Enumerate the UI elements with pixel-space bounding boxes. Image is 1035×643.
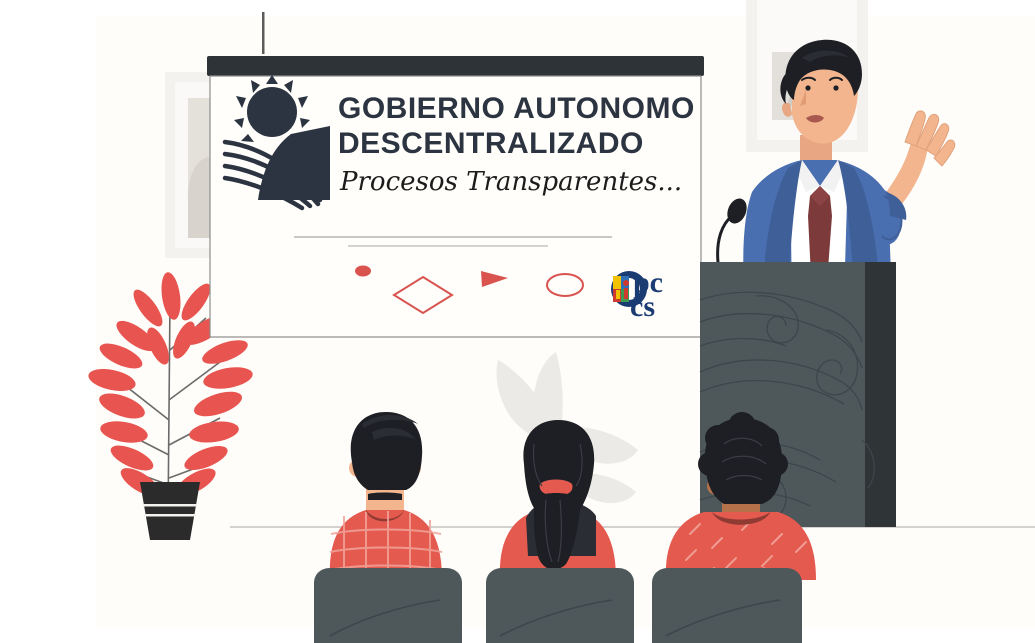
presentation-scene-illustration: GOBIERNO AUTONOMO DESCENTRALIZADO Proces… bbox=[0, 0, 1035, 643]
slide-title-line-2: DESCENTRALIZADO bbox=[338, 127, 644, 160]
red-dot-shape bbox=[355, 266, 371, 277]
podium-side bbox=[865, 262, 896, 527]
cpccs-logo-text-bottom: cs bbox=[630, 290, 655, 323]
screen-top-rail bbox=[207, 56, 704, 76]
slide-tagline: Procesos Transparentes... bbox=[339, 167, 682, 197]
plant-pot bbox=[140, 482, 200, 540]
screen-pole bbox=[262, 12, 265, 54]
slide-title-line-1: GOBIERNO AUTONOMO bbox=[338, 92, 695, 125]
